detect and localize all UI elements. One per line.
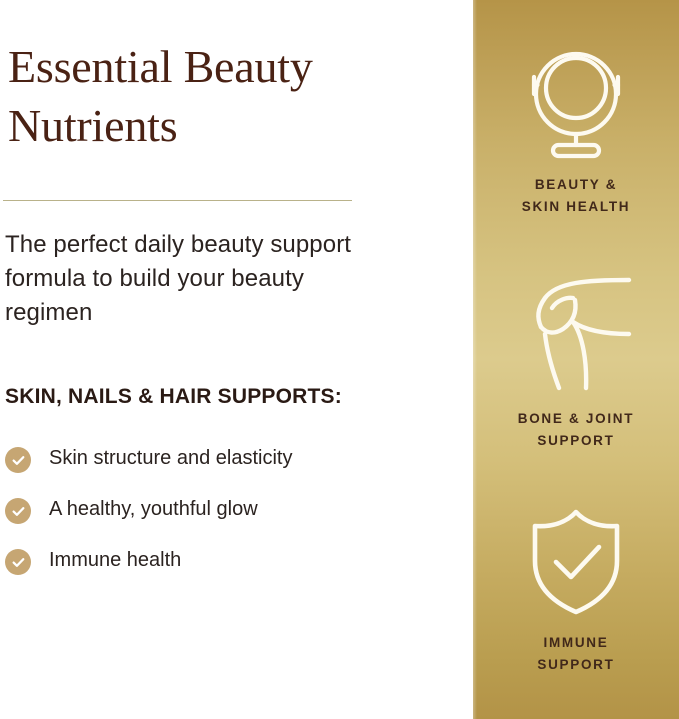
list-item: Skin structure and elasticity bbox=[5, 445, 405, 473]
vanity-mirror-icon bbox=[517, 44, 635, 160]
list-item-label: Immune health bbox=[49, 547, 181, 574]
left-content-pane: Essential Beauty Nutrients The perfect d… bbox=[0, 0, 473, 719]
benefit-bone-joint-support: BONE & JOINT SUPPORT bbox=[473, 272, 679, 453]
check-circle-icon bbox=[5, 498, 31, 524]
list-item-label: Skin structure and elasticity bbox=[49, 445, 292, 472]
benefit-label: BEAUTY & SKIN HEALTH bbox=[522, 174, 630, 219]
supports-bullet-list: Skin structure and elasticity A healthy,… bbox=[5, 445, 405, 598]
list-item: Immune health bbox=[5, 547, 405, 575]
page-title: Essential Beauty Nutrients bbox=[8, 38, 448, 156]
check-circle-icon bbox=[5, 447, 31, 473]
supports-section-heading: SKIN, NAILS & HAIR SUPPORTS: bbox=[5, 385, 342, 409]
benefit-label: BONE & JOINT SUPPORT bbox=[518, 408, 634, 453]
product-benefits-graphic: Essential Beauty Nutrients The perfect d… bbox=[0, 0, 679, 719]
subtitle-text: The perfect daily beauty support formula… bbox=[5, 228, 365, 330]
knee-joint-icon bbox=[517, 272, 635, 394]
benefit-beauty-skin-health: BEAUTY & SKIN HEALTH bbox=[473, 44, 679, 219]
title-divider bbox=[3, 200, 352, 201]
benefits-gold-panel: BEAUTY & SKIN HEALTH bbox=[473, 0, 679, 719]
list-item: A healthy, youthful glow bbox=[5, 496, 405, 524]
benefit-label: IMMUNE SUPPORT bbox=[537, 632, 614, 677]
check-circle-icon bbox=[5, 549, 31, 575]
shield-check-icon bbox=[521, 506, 631, 618]
benefit-immune-support: IMMUNE SUPPORT bbox=[473, 506, 679, 677]
list-item-label: A healthy, youthful glow bbox=[49, 496, 258, 523]
